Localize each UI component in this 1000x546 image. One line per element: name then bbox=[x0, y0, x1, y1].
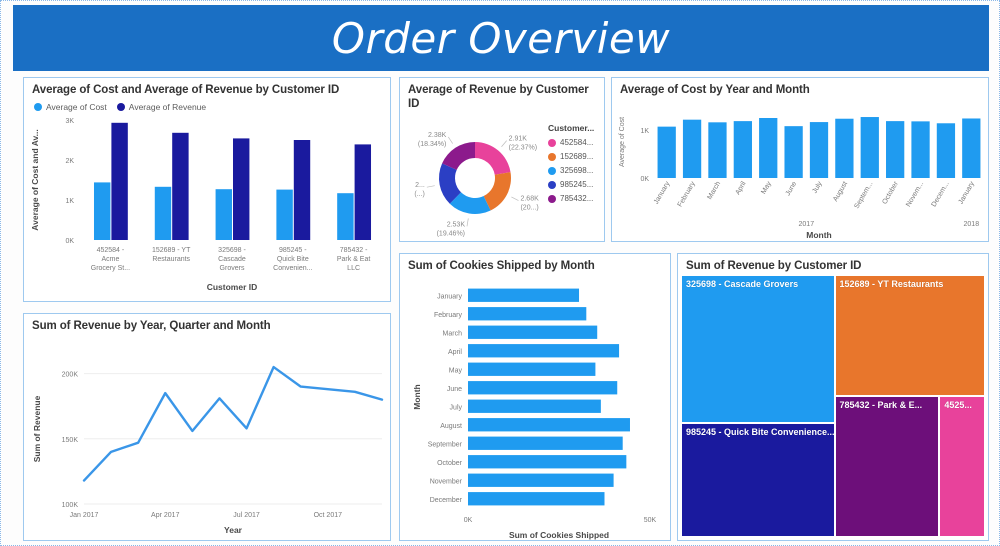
bar-segment[interactable] bbox=[294, 140, 310, 240]
x-axis-category-label: Acme bbox=[101, 256, 119, 263]
chart-title: Average of Revenue by Customer ID bbox=[400, 78, 604, 114]
hbar-chart-plot[interactable]: JanuaryFebruaryMarchAprilMayJuneJulyAugu… bbox=[400, 276, 671, 541]
axis-tick-label: 2K bbox=[65, 158, 74, 165]
x-axis-category-label: May bbox=[760, 180, 773, 195]
donut-legend-label: 985245... bbox=[560, 180, 593, 189]
y-axis-title: Month bbox=[412, 384, 422, 410]
treemap-cell-label: 152689 - YT Restaurants bbox=[836, 276, 984, 292]
x-axis-category-label: Novem... bbox=[905, 180, 925, 208]
treemap-cell-label: 325698 - Cascade Grovers bbox=[682, 276, 834, 292]
bar-segment[interactable] bbox=[708, 122, 726, 178]
report-header: Order Overview bbox=[13, 5, 989, 71]
bar-segment[interactable] bbox=[216, 189, 232, 240]
x-axis-category-label: Grocery St... bbox=[91, 265, 130, 272]
treemap-area[interactable]: 325698 - Cascade Grovers985245 - Quick B… bbox=[682, 276, 986, 538]
y-axis-category-label: August bbox=[440, 423, 462, 430]
chart-average-revenue-by-customer-donut[interactable]: Average of Revenue by Customer ID 2.91K(… bbox=[399, 77, 605, 242]
chart-title: Sum of Revenue by Customer ID bbox=[678, 254, 988, 276]
y-axis-category-label: November bbox=[430, 478, 463, 485]
x-axis-category-label: 785432 - bbox=[340, 247, 368, 254]
x-axis-year-label: 2017 bbox=[799, 221, 815, 228]
line-chart-plot[interactable]: 100K150K200KSum of RevenueJan 2017Apr 20… bbox=[24, 336, 391, 541]
y-axis-category-label: January bbox=[437, 293, 462, 300]
x-axis-category-label: 152689 - YT bbox=[152, 247, 191, 254]
bar-segment[interactable] bbox=[337, 193, 353, 240]
page-title: Order Overview bbox=[332, 14, 670, 63]
axis-tick-label: 0K bbox=[65, 238, 74, 245]
axis-tick-label: 200K bbox=[62, 371, 79, 378]
donut-legend[interactable]: Customer...452584...152689...325698...98… bbox=[548, 123, 594, 203]
donut-data-label: (20...) bbox=[520, 205, 538, 212]
axis-tick-label: 1K bbox=[65, 198, 74, 205]
donut-leader-line bbox=[511, 197, 518, 201]
y-axis-category-label: July bbox=[450, 404, 463, 411]
bar-segment[interactable] bbox=[468, 455, 626, 468]
x-axis-category-label: Convenien... bbox=[273, 265, 312, 272]
donut-legend-item[interactable]: 785432... bbox=[548, 194, 594, 203]
donut-slice[interactable] bbox=[475, 142, 511, 175]
x-axis-tick-label: Oct 2017 bbox=[314, 512, 343, 519]
axis-tick-label: 150K bbox=[62, 437, 79, 444]
donut-legend-label: 152689... bbox=[560, 152, 593, 161]
x-axis-category-label: March bbox=[706, 180, 722, 200]
donut-data-label: 2.53K bbox=[447, 221, 466, 228]
x-axis-tick-label: Jul 2017 bbox=[233, 512, 260, 519]
x-axis-tick-label: Jan 2017 bbox=[70, 512, 99, 519]
axis-tick-label: 3K bbox=[65, 118, 74, 125]
chart-title: Sum of Revenue by Year, Quarter and Mont… bbox=[24, 314, 390, 336]
y-axis-category-label: June bbox=[447, 386, 462, 393]
axis-tick-label: 0K bbox=[640, 176, 649, 183]
donut-chart-plot[interactable]: 2.91K(22.37%)2.68K(20...)2.53K(19.46%)2.… bbox=[400, 116, 550, 241]
bar-segment[interactable] bbox=[468, 325, 597, 338]
bar-segment[interactable] bbox=[111, 123, 127, 240]
y-axis-category-label: April bbox=[448, 349, 462, 356]
y-axis-category-label: February bbox=[434, 312, 463, 319]
legend-item-average-of-cost[interactable]: Average of Cost bbox=[34, 102, 107, 112]
x-axis-category-label: January bbox=[653, 180, 672, 205]
y-axis-title: Sum of Revenue bbox=[32, 395, 42, 462]
x-axis-category-label: August bbox=[832, 180, 849, 202]
legend-swatch-icon bbox=[548, 139, 556, 147]
y-axis-title: Average of Cost and Av... bbox=[30, 129, 40, 230]
axis-tick-label: 1K bbox=[640, 128, 649, 135]
x-axis-category-label: Quick Bite bbox=[277, 256, 309, 263]
donut-legend-label: 452584... bbox=[560, 138, 593, 147]
column-chart-plot[interactable]: 0K1K2K3KAverage of Cost and Av...452584 … bbox=[24, 112, 391, 297]
y-axis-category-label: May bbox=[449, 367, 463, 374]
x-axis-category-label: October bbox=[881, 180, 900, 206]
legend-swatch-icon bbox=[548, 181, 556, 189]
bar-segment[interactable] bbox=[94, 182, 110, 240]
x-axis-category-label: LLC bbox=[347, 265, 360, 272]
axis-tick-label: 100K bbox=[62, 502, 79, 509]
x-axis-category-label: Decem... bbox=[931, 180, 951, 208]
donut-data-label: 2.38K bbox=[428, 132, 447, 139]
x-axis-category-label: June bbox=[785, 180, 799, 197]
chart-legend[interactable]: Average of Cost Average of Revenue bbox=[24, 102, 390, 112]
treemap-cell[interactable]: 785432 - Park & E... bbox=[836, 397, 939, 536]
x-axis-category-label: April bbox=[735, 180, 748, 196]
bar-segment[interactable] bbox=[835, 119, 853, 178]
donut-leader-line bbox=[427, 186, 435, 187]
bar-segment[interactable] bbox=[468, 381, 617, 394]
x-axis-category-label: Septem... bbox=[853, 180, 874, 209]
dashboard-canvas: Order Overview Average of Cost and Avera… bbox=[0, 0, 1000, 546]
y-axis-category-label: September bbox=[428, 441, 463, 448]
bar-segment[interactable] bbox=[468, 344, 619, 357]
x-axis-tick-label: 50K bbox=[644, 517, 657, 524]
bar-segment[interactable] bbox=[468, 399, 601, 412]
donut-data-label: (19.46%) bbox=[437, 230, 465, 237]
legend-swatch-icon bbox=[548, 153, 556, 161]
legend-swatch-icon bbox=[34, 103, 42, 111]
donut-data-label: 2.91K bbox=[509, 136, 528, 143]
chart-title: Sum of Cookies Shipped by Month bbox=[400, 254, 670, 276]
x-axis-title: Year bbox=[224, 525, 243, 535]
chart-sum-revenue-by-customer-treemap[interactable]: Sum of Revenue by Customer ID 325698 - C… bbox=[677, 253, 989, 541]
donut-legend-item[interactable]: 152689... bbox=[548, 152, 594, 161]
donut-data-label: (22.37%) bbox=[509, 145, 537, 152]
legend-swatch-icon bbox=[117, 103, 125, 111]
bar-segment[interactable] bbox=[155, 187, 171, 240]
donut-data-label: 2... bbox=[415, 182, 425, 189]
donut-legend-item[interactable]: 325698... bbox=[548, 166, 594, 175]
donut-leader-line bbox=[467, 218, 468, 226]
bar-segment[interactable] bbox=[468, 362, 595, 375]
x-axis-category-label: 325698 - bbox=[218, 247, 246, 254]
bar-segment[interactable] bbox=[172, 133, 188, 240]
x-axis-category-label: Restaurants bbox=[152, 256, 190, 263]
legend-label: Average of Revenue bbox=[129, 102, 206, 112]
x-axis-title: Customer ID bbox=[207, 282, 258, 292]
y-axis-title: Average of Cost bbox=[619, 117, 626, 167]
bar-segment[interactable] bbox=[759, 118, 777, 178]
donut-data-label: (18.34%) bbox=[418, 141, 446, 148]
treemap-cell-label: 4525... bbox=[940, 397, 984, 413]
bar-segment[interactable] bbox=[962, 118, 980, 178]
legend-swatch-icon bbox=[548, 167, 556, 175]
chart-title: Average of Cost by Year and Month bbox=[612, 78, 988, 100]
donut-data-label: 2.68K bbox=[520, 196, 539, 203]
treemap-cell[interactable]: 4525... bbox=[940, 397, 984, 536]
bar-segment[interactable] bbox=[468, 492, 605, 505]
donut-legend-label: 325698... bbox=[560, 166, 593, 175]
x-axis-category-label: January bbox=[958, 180, 977, 205]
x-axis-tick-label: Apr 2017 bbox=[151, 512, 180, 519]
legend-label: Average of Cost bbox=[46, 102, 107, 112]
x-axis-category-label: Grovers bbox=[220, 265, 245, 272]
x-axis-tick-label: 0K bbox=[464, 517, 473, 524]
donut-legend-item[interactable]: 985245... bbox=[548, 180, 594, 189]
bar-segment[interactable] bbox=[734, 121, 752, 178]
bar-segment[interactable] bbox=[937, 123, 955, 178]
bar-segment[interactable] bbox=[468, 307, 586, 320]
bar-segment[interactable] bbox=[355, 144, 371, 240]
treemap-cell-label: 785432 - Park & E... bbox=[836, 397, 939, 413]
donut-data-label: (...) bbox=[414, 191, 425, 198]
y-axis-category-label: December bbox=[430, 497, 463, 504]
x-axis-category-label: Cascade bbox=[218, 256, 246, 263]
bar-segment[interactable] bbox=[233, 138, 249, 240]
legend-item-average-of-revenue[interactable]: Average of Revenue bbox=[117, 102, 206, 112]
y-axis-category-label: October bbox=[437, 460, 463, 467]
treemap-cell-label: 985245 - Quick Bite Convenience... bbox=[682, 424, 834, 440]
bar-segment[interactable] bbox=[468, 418, 630, 431]
donut-legend-item[interactable]: 452584... bbox=[548, 138, 594, 147]
bar-segment[interactable] bbox=[658, 126, 676, 177]
bar-segment[interactable] bbox=[784, 126, 802, 178]
chart-sum-revenue-by-year-quarter-month[interactable]: Sum of Revenue by Year, Quarter and Mont… bbox=[23, 313, 391, 541]
bar-segment[interactable] bbox=[861, 117, 879, 178]
legend-swatch-icon bbox=[548, 195, 556, 203]
chart-cookies-shipped-by-month[interactable]: Sum of Cookies Shipped by Month JanuaryF… bbox=[399, 253, 671, 541]
month-bar-plot[interactable]: 0K1KAverage of CostJanuaryFebruaryMarchA… bbox=[612, 100, 989, 242]
x-axis-category-label: 452584 - bbox=[97, 247, 125, 254]
x-axis-category-label: 985245 - bbox=[279, 247, 307, 254]
donut-legend-title: Customer... bbox=[548, 123, 594, 133]
chart-average-cost-by-year-month[interactable]: Average of Cost by Year and Month 0K1KAv… bbox=[611, 77, 989, 242]
treemap-cell[interactable]: 152689 - YT Restaurants bbox=[836, 276, 984, 395]
y-axis-category-label: March bbox=[443, 330, 463, 337]
bar-segment[interactable] bbox=[683, 119, 701, 177]
bar-segment[interactable] bbox=[468, 473, 614, 486]
bar-segment[interactable] bbox=[468, 288, 579, 301]
bar-segment[interactable] bbox=[886, 121, 904, 178]
treemap-cell[interactable]: 985245 - Quick Bite Convenience... bbox=[682, 424, 834, 536]
treemap-cell[interactable]: 325698 - Cascade Grovers bbox=[682, 276, 834, 422]
x-axis-category-label: July bbox=[811, 180, 824, 195]
chart-average-cost-revenue-by-customer[interactable]: Average of Cost and Average of Revenue b… bbox=[23, 77, 391, 302]
donut-leader-line bbox=[448, 137, 452, 144]
chart-title: Average of Cost and Average of Revenue b… bbox=[24, 78, 390, 100]
bar-segment[interactable] bbox=[810, 122, 828, 178]
x-axis-category-label: February bbox=[677, 180, 697, 208]
x-axis-title: Sum of Cookies Shipped bbox=[509, 530, 609, 540]
bar-segment[interactable] bbox=[468, 436, 623, 449]
donut-legend-label: 785432... bbox=[560, 194, 593, 203]
bar-segment[interactable] bbox=[276, 189, 292, 239]
line-series[interactable] bbox=[84, 367, 382, 480]
bar-segment[interactable] bbox=[911, 121, 929, 178]
donut-leader-line bbox=[501, 141, 506, 147]
x-axis-year-label: 2018 bbox=[964, 221, 980, 228]
x-axis-title: Month bbox=[806, 230, 832, 240]
x-axis-category-label: Park & Eat bbox=[337, 256, 371, 263]
